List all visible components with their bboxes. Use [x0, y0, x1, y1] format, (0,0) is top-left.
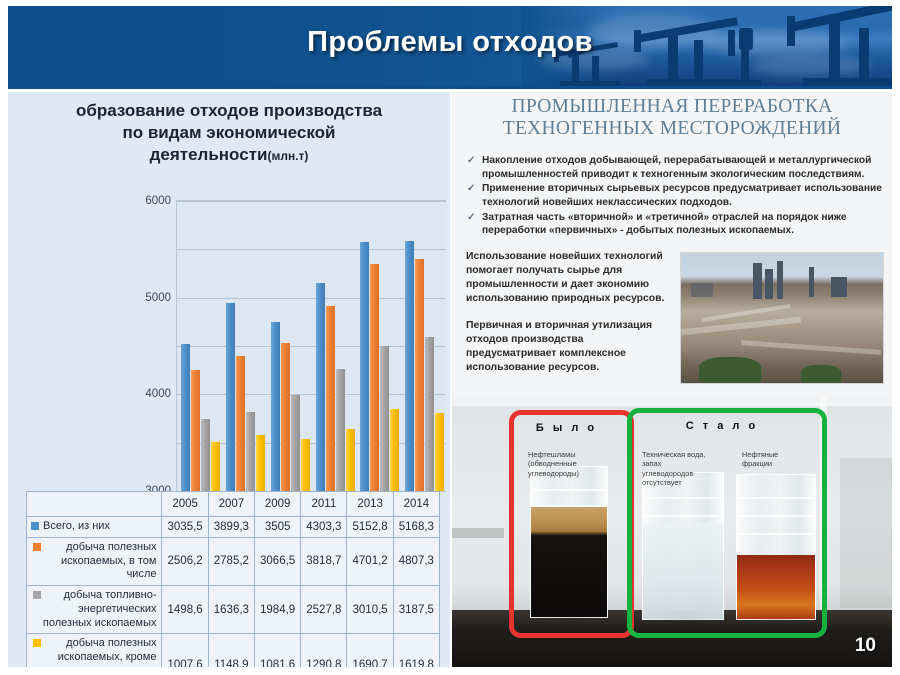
chart-panel: образование отходов производства по вида… — [8, 92, 450, 667]
table-row-label-text: добыча полезных ископаемых, в том числе — [61, 541, 156, 581]
table-row-label-text: добыча полезных ископаемых, кроме топлив… — [58, 637, 157, 667]
bullet-text: Применение вторичных сырьевых ресурсов п… — [482, 183, 882, 208]
table-cell-value: 3066,5 — [254, 537, 300, 585]
table-column-header: 2014 — [393, 492, 439, 517]
chart-bar-group — [312, 201, 357, 491]
table-column-header: 2013 — [347, 492, 393, 517]
table-row: Всего, из них3035,53899,335054303,35152,… — [27, 517, 440, 538]
table-cell-value: 1619,8 — [393, 634, 439, 667]
chart-bar — [246, 412, 255, 491]
table-cell-value: 1081,6 — [254, 634, 300, 667]
table-cell-value: 1148,9 — [208, 634, 254, 667]
table-cell-value: 2785,2 — [208, 537, 254, 585]
table-cell-value: 1636,3 — [208, 586, 254, 634]
chart-bar — [425, 337, 434, 491]
bullet-item: ✓Затратная часть «вторичной» и «третично… — [466, 211, 884, 238]
table-cell-value: 3505 — [254, 517, 300, 538]
table-cell-value: 1007,6 — [162, 634, 208, 667]
table-corner-cell — [27, 492, 162, 517]
table-cell-value: 3187,5 — [393, 586, 439, 634]
chart-title-line1: образование отходов производства — [76, 101, 382, 120]
before-after-photo: Б ы л о Нефтешламы (обводненные углеводо… — [452, 398, 892, 667]
chart-bar — [415, 259, 424, 491]
after-note-oil: Нефтяные фракции — [742, 450, 806, 469]
table-column-header: 2011 — [301, 492, 347, 517]
table-cell-value: 1498,6 — [162, 586, 208, 634]
table-cell-value: 3818,7 — [301, 537, 347, 585]
chart-bar-group — [401, 201, 446, 491]
slide-header-banner: Проблемы отходов — [8, 6, 892, 86]
chart-bar — [346, 429, 355, 491]
chart-bar — [291, 395, 300, 491]
table-column-header: 2009 — [254, 492, 300, 517]
slide: Проблемы отходов образование отходов про… — [0, 0, 900, 675]
legend-swatch-icon — [33, 591, 41, 599]
legend-swatch-icon — [31, 522, 39, 530]
table-cell-value: 1290,8 — [301, 634, 347, 667]
chart-bar-group — [177, 201, 222, 491]
chart-bar — [256, 435, 265, 491]
table-body: Всего, из них3035,53899,335054303,35152,… — [27, 517, 440, 668]
chart-bar — [211, 442, 220, 491]
chart-bar — [360, 242, 369, 491]
bullet-list: ✓Накопление отходов добывающей, перераба… — [466, 154, 884, 239]
legend-swatch-icon — [33, 543, 41, 551]
chart-title: образование отходов производства по вида… — [18, 100, 440, 166]
table-column-header: 2007 — [208, 492, 254, 517]
table-cell-value: 4701,2 — [347, 537, 393, 585]
bar-chart-plot-area: 0100020003000400050006000 — [176, 200, 446, 491]
y-axis-tick-label: 5000 — [145, 292, 171, 304]
chart-bar — [405, 241, 414, 491]
table-row-label: Всего, из них — [27, 517, 162, 538]
right-title-line2: ТЕХНОГЕННЫХ МЕСТОРОЖДЕНИЙ — [503, 118, 842, 139]
chart-bar — [336, 369, 345, 491]
table-row: добыча топливно-энергетических полезных … — [27, 586, 440, 634]
paragraph-text: Использование новейших технологий помога… — [466, 250, 672, 307]
chart-bar — [236, 356, 245, 491]
slide-page-number: 10 — [855, 635, 876, 657]
paragraph-block: Использование новейших технологий помога… — [466, 250, 672, 387]
before-highlight-box — [509, 410, 634, 638]
check-icon: ✓ — [467, 211, 475, 224]
before-note: Нефтешламы (обводненные углеводороды) — [528, 450, 612, 478]
chart-bar — [271, 322, 280, 491]
industrial-site-photo — [680, 252, 884, 384]
chart-data-table: 200520072009201120132014 Всего, из них30… — [26, 491, 440, 667]
paragraph-text: Первичная и вторичная утилизация отходов… — [466, 319, 672, 376]
table-row-label: добыча полезных ископаемых, в том числе — [27, 537, 162, 585]
bullet-item: ✓Применение вторичных сырьевых ресурсов … — [466, 182, 884, 209]
chart-title-line2: по видам экономической — [122, 123, 335, 142]
after-highlight-box — [627, 408, 827, 638]
table-cell-value: 4807,3 — [393, 537, 439, 585]
table-column-header: 2005 — [162, 492, 208, 517]
before-label: Б ы л о — [509, 422, 624, 434]
chart-bar — [191, 370, 200, 491]
chart-bar — [281, 343, 290, 491]
after-label: С т а л о — [627, 420, 817, 432]
table-cell-value: 1690,7 — [347, 634, 393, 667]
table-cell-value: 2506,2 — [162, 537, 208, 585]
table-cell-value: 5168,3 — [393, 517, 439, 538]
table-row-label: добыча полезных ископаемых, кроме топлив… — [27, 634, 162, 667]
right-panel-title: ПРОМЫШЛЕННАЯ ПЕРЕРАБОТКА ТЕХНОГЕННЫХ МЕС… — [460, 96, 884, 140]
chart-bar — [370, 264, 379, 491]
bullet-text: Затратная часть «вторичной» и «третичной… — [482, 212, 847, 237]
right-title-line1: ПРОМЫШЛЕННАЯ ПЕРЕРАБОТКА — [511, 96, 832, 117]
chart-bar — [301, 439, 310, 491]
chart-title-unit: (млн.т) — [267, 149, 308, 163]
bullet-item: ✓Накопление отходов добывающей, перераба… — [466, 154, 884, 181]
table-cell-value: 2527,8 — [301, 586, 347, 634]
page-title: Проблемы отходов — [8, 26, 892, 59]
y-axis-tick-label: 4000 — [145, 388, 171, 400]
chart-bar — [326, 306, 335, 491]
chart-bar — [380, 346, 389, 492]
after-note-water: Техническая вода, запах углеводородов от… — [642, 450, 714, 488]
check-icon: ✓ — [467, 154, 475, 167]
chart-bar — [181, 344, 190, 491]
chart-title-line3: деятельности — [150, 145, 268, 164]
table-cell-value: 5152,8 — [347, 517, 393, 538]
y-axis-tick-label: 6000 — [145, 195, 171, 207]
chart-bar — [390, 409, 399, 491]
banner-underline — [8, 86, 892, 89]
chart-bar-group — [267, 201, 312, 491]
content-panel: ПРОМЫШЛЕННАЯ ПЕРЕРАБОТКА ТЕХНОГЕННЫХ МЕС… — [452, 92, 892, 667]
chart-bar — [435, 413, 444, 491]
chart-bar — [201, 419, 210, 491]
table-row: добыча полезных ископаемых, в том числе2… — [27, 537, 440, 585]
chart-bar-group — [356, 201, 401, 491]
table-row-label-text: добыча топливно-энергетических полезных … — [43, 589, 157, 629]
table-cell-value: 1984,9 — [254, 586, 300, 634]
chart-bar — [316, 283, 325, 491]
table-cell-value: 3035,5 — [162, 517, 208, 538]
table-cell-value: 4303,3 — [301, 517, 347, 538]
chart-bar-group — [222, 201, 267, 491]
chart-bar — [226, 303, 235, 491]
bullet-text: Накопление отходов добывающей, перерабат… — [482, 155, 871, 180]
table-cell-value: 3899,3 — [208, 517, 254, 538]
table-cell-value: 3010,5 — [347, 586, 393, 634]
table-row: добыча полезных ископаемых, кроме топлив… — [27, 634, 440, 667]
table-header-row: 200520072009201120132014 — [27, 492, 440, 517]
legend-swatch-icon — [33, 639, 41, 647]
table-row-label: добыча топливно-энергетических полезных … — [27, 586, 162, 634]
check-icon: ✓ — [467, 182, 475, 195]
